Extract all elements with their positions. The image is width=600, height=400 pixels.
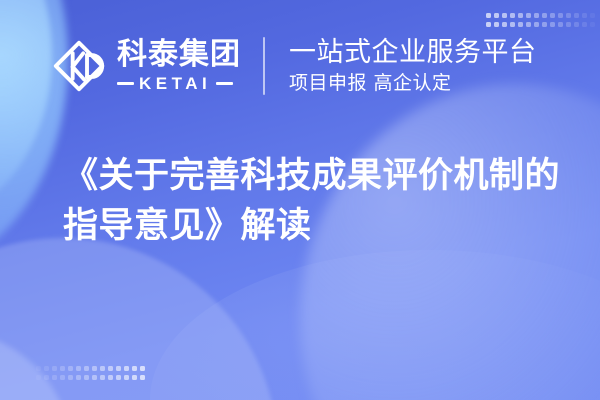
- dot-row: [36, 366, 145, 371]
- decorative-dot: [76, 366, 81, 371]
- promo-banner: 科泰集团 KETAI 一站式企业服务平台 项目申报 高企认定 《关于完善科技成果…: [0, 0, 600, 400]
- brand-logo[interactable]: 科泰集团 KETAI: [52, 39, 241, 93]
- brand-name-en-row: KETAI: [117, 75, 241, 92]
- decorative-dot: [76, 375, 81, 380]
- decorative-dot: [60, 375, 65, 380]
- decorative-dot: [108, 366, 113, 371]
- decorative-dot: [140, 375, 145, 380]
- header-divider: [263, 37, 265, 95]
- ketai-diamond-kd-logo-icon: [52, 39, 106, 93]
- decorative-dot: [124, 375, 129, 380]
- decorative-dot: [84, 375, 89, 380]
- bottom-left-inner-circle: [0, 330, 72, 400]
- decorative-dot: [52, 375, 57, 380]
- decorative-dot: [108, 375, 113, 380]
- wordmark-rule-left-icon: [117, 82, 134, 85]
- header-slogan: 一站式企业服务平台 项目申报 高企认定: [289, 38, 537, 94]
- banner-header: 科泰集团 KETAI 一站式企业服务平台 项目申报 高企认定: [0, 0, 600, 132]
- decorative-dot: [132, 375, 137, 380]
- slogan-main-text: 一站式企业服务平台: [289, 38, 537, 67]
- decorative-dot: [68, 366, 73, 371]
- decorative-dot: [68, 375, 73, 380]
- brand-name-en: KETAI: [139, 75, 211, 92]
- wordmark-rule-right-icon: [216, 82, 233, 85]
- page-title-line-2: 指导意见》解读: [63, 202, 543, 252]
- decorative-dot: [84, 366, 89, 371]
- decorative-dot: [100, 366, 105, 371]
- decorative-dot: [92, 366, 97, 371]
- brand-logo-wordmark: 科泰集团 KETAI: [117, 40, 241, 92]
- slogan-sub-text: 项目申报 高企认定: [289, 73, 537, 94]
- decorative-dot: [140, 366, 145, 371]
- decorative-dot: [124, 366, 129, 371]
- dot-row: [36, 375, 145, 380]
- brand-name-cn: 科泰集团: [117, 40, 241, 70]
- page-title-line-1: 《关于完善科技成果评价机制的: [63, 152, 543, 202]
- decorative-dot: [92, 375, 97, 380]
- decorative-dot: [116, 366, 121, 371]
- decorative-dot: [44, 366, 49, 371]
- dot-grid-bottom-left: [36, 366, 145, 380]
- decorative-dot: [132, 366, 137, 371]
- decorative-dot: [52, 366, 57, 371]
- decorative-dot: [116, 375, 121, 380]
- page-title: 《关于完善科技成果评价机制的 指导意见》解读: [63, 152, 543, 251]
- decorative-dot: [60, 366, 65, 371]
- decorative-dot: [36, 366, 41, 371]
- decorative-dot: [100, 375, 105, 380]
- decorative-dot: [36, 375, 41, 380]
- decorative-dot: [44, 375, 49, 380]
- bottom-sweep-highlight: [150, 250, 600, 400]
